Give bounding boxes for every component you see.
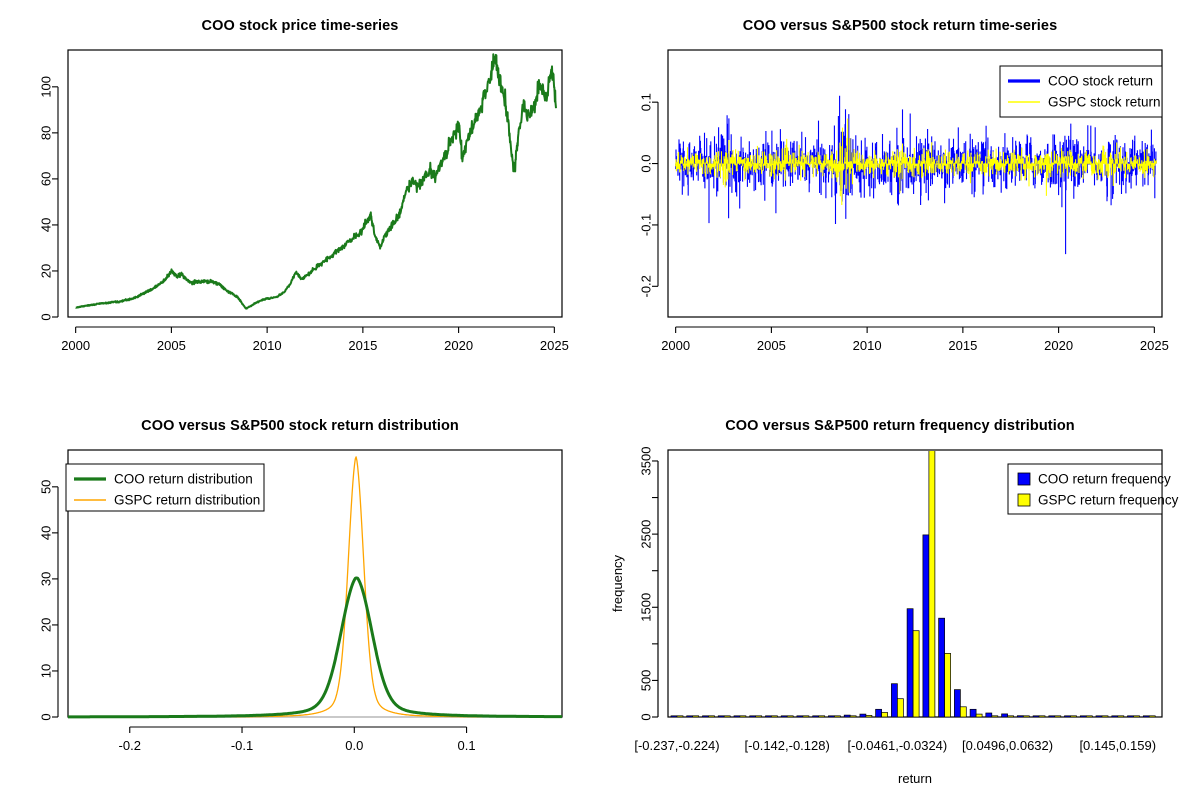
bar-coo-2 <box>703 716 709 717</box>
x-tick-label: 2015 <box>948 338 977 353</box>
bar-coo-4 <box>734 716 740 717</box>
x-tick-label: 2010 <box>853 338 882 353</box>
y-tick-label: 20 <box>39 618 54 632</box>
y-tick-label: 0 <box>39 713 54 720</box>
bar-gspc-22 <box>1023 716 1029 717</box>
density-line-coo <box>68 578 562 717</box>
bar-coo-0 <box>671 716 677 717</box>
legend-swatch-1 <box>1018 494 1030 506</box>
legend-swatch-0 <box>1018 473 1030 485</box>
x-tick-label: [-0.142,-0.128) <box>745 738 830 753</box>
bar-gspc-3 <box>724 716 730 717</box>
y-tick-label: 0.1 <box>639 93 654 111</box>
y-tick-label: 50 <box>39 480 54 494</box>
x-tick-label: 2010 <box>253 338 282 353</box>
y-tick-label: 100 <box>39 76 54 98</box>
x-tick-label: 2020 <box>444 338 473 353</box>
x-tick-label: 2020 <box>1044 338 1073 353</box>
bar-gspc-18 <box>960 707 966 717</box>
bar-gspc-25 <box>1071 716 1077 717</box>
bar-gspc-27 <box>1102 716 1108 717</box>
x-tick-label: 2005 <box>157 338 186 353</box>
panel-return-density: COO versus S&P500 stock return distribut… <box>0 400 600 800</box>
x-tick-label: -0.1 <box>231 738 253 753</box>
y-tick-label: 10 <box>39 664 54 678</box>
panel-return-frequency: COO versus S&P500 return frequency distr… <box>600 400 1200 800</box>
return-timeseries-plot: 200020052010201520202025-0.2-0.10.00.1CO… <box>600 0 1200 400</box>
x-axis-title: return <box>898 771 932 786</box>
x-tick-label: [0.0496,0.0632) <box>962 738 1053 753</box>
bar-coo-19 <box>970 709 976 717</box>
bar-gspc-11 <box>850 716 856 717</box>
bar-gspc-26 <box>1086 716 1092 717</box>
bar-gspc-10 <box>834 716 840 717</box>
panel-price-timeseries: COO stock price time-series 200020052010… <box>0 0 600 400</box>
return-frequency-plot: 0500150025003500[-0.237,-0.224)[-0.142,-… <box>600 400 1200 800</box>
legend-label-0: COO stock return <box>1048 74 1153 89</box>
legend: COO return frequencyGSPC return frequenc… <box>1008 464 1179 514</box>
bar-coo-24 <box>1049 716 1055 717</box>
bar-gspc-1 <box>693 716 699 717</box>
bar-gspc-9 <box>819 716 825 717</box>
bar-gspc-13 <box>882 713 888 718</box>
legend-label-0: COO return distribution <box>114 472 253 487</box>
y-tick-label: 1500 <box>639 593 654 622</box>
bar-gspc-2 <box>709 716 715 717</box>
y-tick-label: 0 <box>639 713 654 720</box>
bar-coo-20 <box>986 713 992 717</box>
x-tick-label: 2005 <box>757 338 786 353</box>
x-tick-label: 2025 <box>1140 338 1169 353</box>
bar-coo-6 <box>766 716 772 717</box>
x-tick-label: -0.2 <box>119 738 141 753</box>
y-tick-label: 30 <box>39 572 54 586</box>
bar-coo-17 <box>939 618 945 717</box>
bar-coo-30 <box>1143 716 1149 717</box>
bar-gspc-4 <box>740 716 746 717</box>
y-tick-label: 2500 <box>639 520 654 549</box>
return-density-plot: -0.2-0.10.00.101020304050COO return dist… <box>0 400 600 800</box>
x-tick-label: 2025 <box>540 338 569 353</box>
legend-label-1: GSPC return distribution <box>114 493 260 508</box>
y-tick-label: 40 <box>39 526 54 540</box>
y-tick-label: 40 <box>39 218 54 232</box>
y-tick-label: 20 <box>39 264 54 278</box>
legend: COO return distributionGSPC return distr… <box>66 464 264 511</box>
y-axis-title: frequency <box>610 554 625 612</box>
x-tick-label: 2015 <box>348 338 377 353</box>
bar-coo-14 <box>891 684 897 717</box>
price-timeseries-plot: 200020052010201520202025020406080100 <box>0 0 600 400</box>
y-tick-label: 3500 <box>639 447 654 476</box>
bar-gspc-17 <box>945 653 951 717</box>
x-tick-label: 2000 <box>661 338 690 353</box>
bar-coo-1 <box>687 716 693 717</box>
bar-gspc-21 <box>1008 716 1014 717</box>
bar-gspc-28 <box>1118 716 1124 717</box>
y-tick-label: 0 <box>39 313 54 320</box>
bar-coo-12 <box>860 714 866 717</box>
x-tick-label: [0.145,0.159) <box>1079 738 1156 753</box>
legend: COO stock returnGSPC stock return <box>1000 66 1162 117</box>
bar-gspc-30 <box>1149 716 1155 717</box>
bar-coo-21 <box>1002 714 1008 717</box>
bar-gspc-6 <box>771 716 777 717</box>
bar-gspc-24 <box>1055 716 1061 717</box>
y-tick-label: -0.2 <box>639 275 654 297</box>
figure-canvas: COO stock price time-series 200020052010… <box>0 0 1200 800</box>
bar-gspc-5 <box>756 716 762 717</box>
x-tick-label: 2000 <box>61 338 90 353</box>
bar-coo-7 <box>781 716 787 717</box>
bar-coo-22 <box>1017 716 1023 717</box>
bar-coo-25 <box>1065 716 1071 717</box>
bar-coo-9 <box>813 716 819 717</box>
bar-coo-3 <box>718 716 724 717</box>
y-tick-label: 0.0 <box>639 155 654 173</box>
bar-coo-27 <box>1096 716 1102 717</box>
bar-coo-16 <box>923 535 929 717</box>
bar-gspc-16 <box>929 426 935 717</box>
bar-gspc-19 <box>976 714 982 717</box>
bar-gspc-14 <box>897 699 903 717</box>
legend-label-0: COO return frequency <box>1038 472 1171 487</box>
legend-label-1: GSPC return frequency <box>1038 493 1179 508</box>
x-tick-label: [-0.0461,-0.0324) <box>848 738 948 753</box>
bar-coo-5 <box>750 716 756 717</box>
panel-return-timeseries: COO versus S&P500 stock return time-seri… <box>600 0 1200 400</box>
x-tick-label: 0.0 <box>345 738 363 753</box>
bar-coo-8 <box>797 716 803 717</box>
price-line-coo <box>76 54 556 308</box>
y-tick-label: 80 <box>39 126 54 140</box>
bar-gspc-29 <box>1134 716 1140 717</box>
x-tick-label: [-0.237,-0.224) <box>634 738 719 753</box>
y-tick-label: 500 <box>639 670 654 692</box>
bar-coo-18 <box>954 690 960 717</box>
bar-coo-26 <box>1080 716 1086 717</box>
bar-coo-13 <box>876 709 882 717</box>
bar-gspc-0 <box>677 716 683 717</box>
bar-coo-15 <box>907 609 913 717</box>
y-tick-label: 60 <box>39 172 54 186</box>
x-tick-label: 0.1 <box>458 738 476 753</box>
bar-coo-10 <box>828 716 834 717</box>
bar-coo-29 <box>1128 716 1134 717</box>
bar-coo-11 <box>844 715 850 717</box>
bar-gspc-15 <box>913 631 919 717</box>
legend-label-1: GSPC stock return <box>1048 95 1161 110</box>
return-series-coo <box>676 96 1157 254</box>
y-tick-label: -0.1 <box>639 214 654 236</box>
bar-coo-28 <box>1112 716 1118 717</box>
bar-gspc-12 <box>866 715 872 717</box>
bar-coo-23 <box>1033 716 1039 717</box>
bar-gspc-20 <box>992 716 998 717</box>
bar-gspc-8 <box>803 716 809 717</box>
bar-gspc-23 <box>1039 716 1045 717</box>
bar-gspc-7 <box>787 716 793 717</box>
